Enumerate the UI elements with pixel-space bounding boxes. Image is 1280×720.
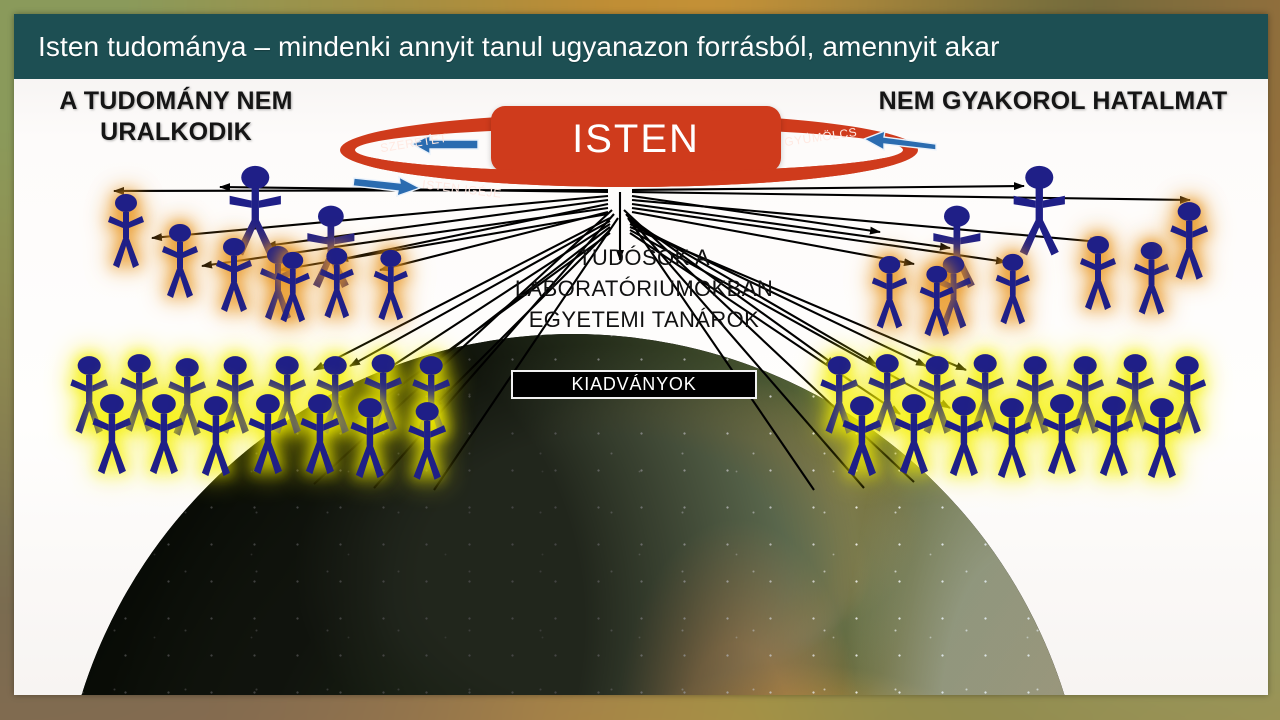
- stick-figure: [836, 394, 888, 480]
- stick-figure: [344, 396, 396, 482]
- stick-figure: [368, 248, 414, 324]
- presentation-slide: ISTEN SZERETET ISTEN IGÉJE GYÜMÖLCS TUDÓ…: [14, 14, 1268, 695]
- center-line-1: TUDÓSOK A: [444, 242, 844, 273]
- stick-figure: [1010, 164, 1069, 262]
- stick-figure: [314, 246, 360, 322]
- stick-figure: [270, 250, 316, 326]
- stick-figure: [210, 236, 258, 316]
- stick-figure: [102, 192, 150, 272]
- stick-figure: [190, 394, 242, 480]
- stick-figure: [1036, 392, 1088, 478]
- stick-figure: [1088, 394, 1140, 480]
- center-line-3: EGYETEMI TANÁROK: [444, 304, 844, 335]
- publications-label: KIADVÁNYOK: [571, 374, 696, 395]
- stick-figure: [914, 264, 960, 340]
- slide-title-bar: Isten tudománya – mindenki annyit tanul …: [14, 14, 1268, 79]
- stick-figure: [938, 394, 990, 480]
- page-title: Isten tudománya – mindenki annyit tanul …: [14, 31, 1000, 63]
- stick-figure: [86, 392, 138, 478]
- stick-figure: [888, 392, 940, 478]
- stick-figure: [138, 392, 190, 478]
- ring-arrow-right-icon: [854, 128, 938, 156]
- publications-box: KIADVÁNYOK: [511, 370, 757, 399]
- heading-right: NEM GYAKOROL HATALMAT: [838, 86, 1268, 117]
- center-description: TUDÓSOK A LABORATÓRIUMOKBAN EGYETEMI TAN…: [444, 242, 844, 335]
- stick-figure: [242, 392, 294, 478]
- stick-figure: [1074, 234, 1122, 314]
- stick-figure: [1136, 396, 1188, 482]
- stick-figure: [866, 254, 913, 332]
- center-line-2: LABORATÓRIUMOKBAN: [444, 273, 844, 304]
- stick-figure: [294, 392, 346, 478]
- stick-figure: [986, 396, 1038, 482]
- stick-figure: [1164, 200, 1214, 284]
- stick-figure: [990, 252, 1036, 328]
- stick-figure: [156, 222, 204, 302]
- slide-stage: ISTEN SZERETET ISTEN IGÉJE GYÜMÖLCS TUDÓ…: [0, 0, 1280, 720]
- heading-left: A TUDOMÁNY NEM URALKODIK: [16, 86, 336, 148]
- ring-arrow-bottom-icon: [352, 172, 426, 198]
- stick-figure: [402, 400, 452, 484]
